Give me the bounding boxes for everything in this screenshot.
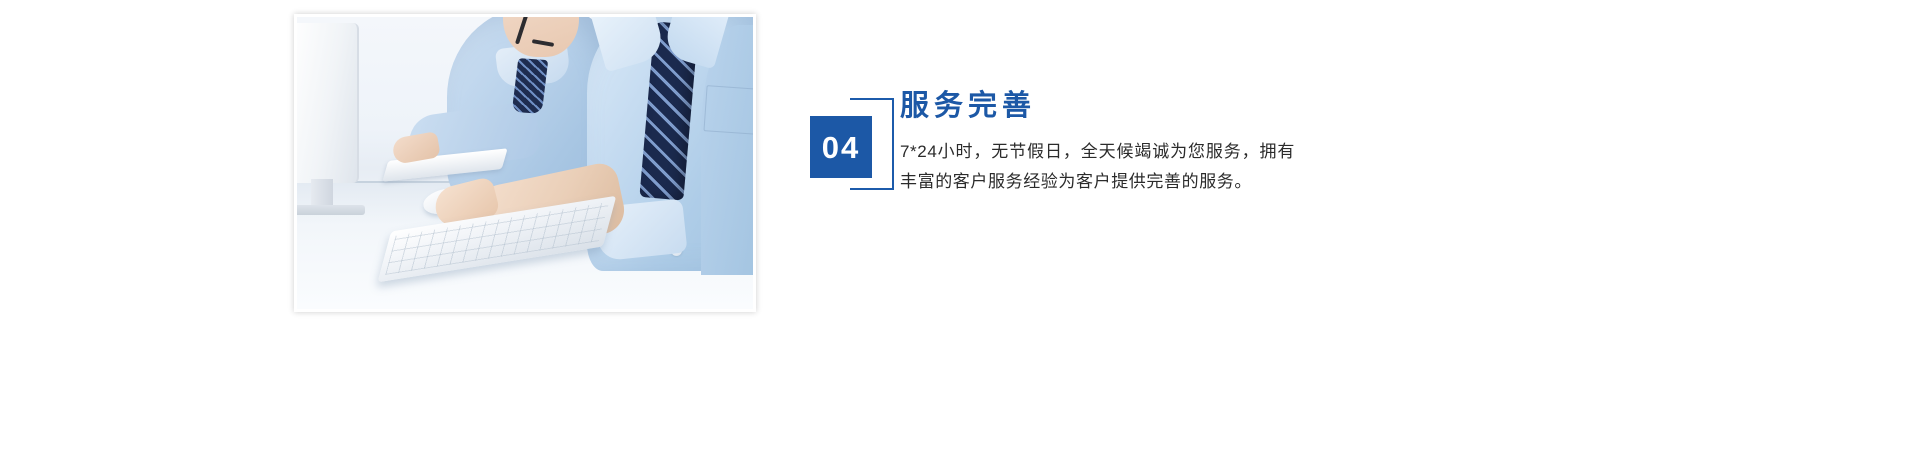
feature-text-column: 服务完善 7*24小时，无节假日，全天候竭诚为您服务，拥有丰富的客户服务经验为客… <box>900 90 1320 197</box>
computer-monitor-icon <box>297 23 359 183</box>
feature-description: 7*24小时，无节假日，全天候竭诚为您服务，拥有丰富的客户服务经验为客户提供完善… <box>900 137 1295 197</box>
office-photo-frame <box>294 14 756 312</box>
monitor-base-icon <box>297 205 365 215</box>
office-photo <box>297 17 753 309</box>
shirt-pocket-icon <box>703 85 753 135</box>
feature-content: 04 服务完善 7*24小时，无节假日，全天候竭诚为您服务，拥有丰富的客户服务经… <box>810 90 1510 270</box>
feature-heading: 服务完善 <box>900 90 1320 123</box>
service-feature-section: 04 服务完善 7*24小时，无节假日，全天候竭诚为您服务，拥有丰富的客户服务经… <box>0 0 1920 452</box>
step-badge: 04 <box>810 98 898 194</box>
badge-number: 04 <box>822 132 860 163</box>
badge-number-box: 04 <box>810 116 872 178</box>
